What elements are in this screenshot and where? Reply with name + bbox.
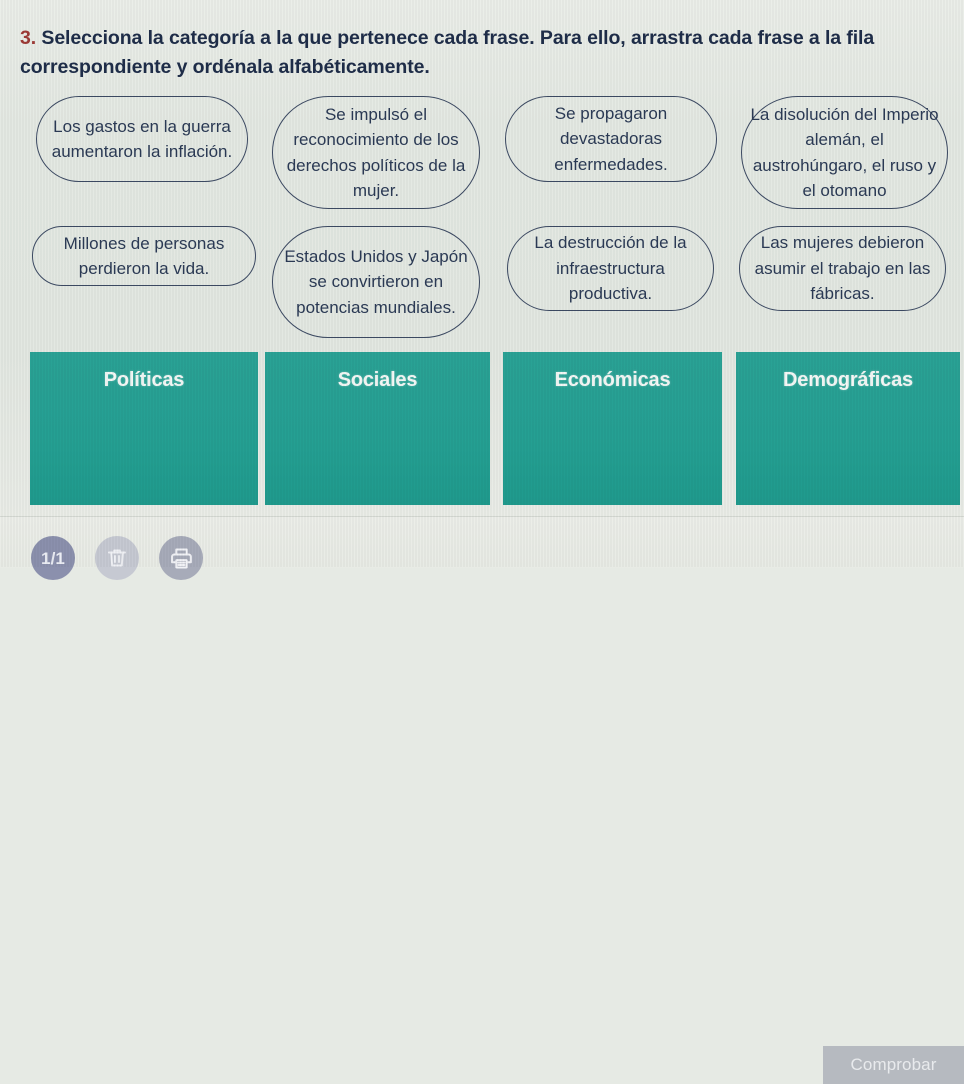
phrase-chip[interactable]: Estados Unidos y Japón se convirtieron e… [272, 226, 480, 338]
category-dropzone[interactable] [30, 408, 258, 505]
phrase-chip[interactable]: La disolución del Imperio alemán, el aus… [741, 96, 948, 209]
category-dropzone[interactable] [736, 408, 960, 505]
phrase-chip-label: Los gastos en la guerra aumentaron la in… [43, 114, 241, 165]
print-icon[interactable] [159, 536, 203, 580]
category-label: Demográficas [736, 368, 960, 392]
category-dropzone[interactable] [265, 408, 490, 505]
phrase-chip-label: La destrucción de la infraestructura pro… [514, 230, 707, 307]
category-column-economicas[interactable]: Económicas [503, 352, 722, 505]
phrase-chip-label: Se impulsó el reconocimiento de los dere… [279, 102, 473, 204]
bottom-toolbar: 1/1 Comprobar [0, 516, 964, 568]
phrase-chip[interactable]: Los gastos en la guerra aumentaron la in… [36, 96, 248, 182]
phrase-chip[interactable]: Se impulsó el reconocimiento de los dere… [272, 96, 480, 209]
category-label: Sociales [265, 368, 490, 392]
phrase-chip[interactable]: La destrucción de la infraestructura pro… [507, 226, 714, 311]
check-button[interactable]: Comprobar [823, 1046, 964, 1084]
page-indicator-button[interactable]: 1/1 [31, 536, 75, 580]
check-button-label: Comprobar [851, 1055, 937, 1075]
page-indicator-label: 1/1 [41, 550, 65, 567]
phrase-chip[interactable]: Millones de personas perdieron la vida. [32, 226, 256, 286]
category-dropzone[interactable] [503, 408, 722, 505]
prompt-text: Selecciona la categoría a la que pertene… [20, 27, 874, 78]
trash-icon-glyph [105, 546, 129, 570]
category-label: Políticas [30, 368, 258, 392]
phrase-chip-label: Estados Unidos y Japón se convirtieron e… [279, 244, 473, 321]
trash-icon[interactable] [95, 536, 139, 580]
activity-page: 3. Selecciona la categoría a la que pert… [0, 0, 964, 567]
category-column-politicas[interactable]: Políticas [30, 352, 258, 505]
category-column-sociales[interactable]: Sociales [265, 352, 490, 505]
category-column-demograficas[interactable]: Demográficas [736, 352, 960, 505]
phrase-chip-label: Se propagaron devastadoras enfermedades. [512, 101, 710, 178]
phrase-chip-label: Millones de personas perdieron la vida. [39, 231, 249, 282]
phrase-chip-label: Las mujeres debieron asumir el trabajo e… [746, 230, 939, 307]
category-columns: Políticas Sociales Económicas Demográfic… [0, 352, 964, 507]
question-number: 3. [20, 27, 36, 49]
phrase-chip-label: La disolución del Imperio alemán, el aus… [748, 102, 941, 204]
phrase-chip[interactable]: Las mujeres debieron asumir el trabajo e… [739, 226, 946, 311]
category-label: Económicas [503, 368, 722, 392]
phrase-chip[interactable]: Se propagaron devastadoras enfermedades. [505, 96, 717, 182]
page-title: 3. Selecciona la categoría a la que pert… [20, 24, 950, 82]
